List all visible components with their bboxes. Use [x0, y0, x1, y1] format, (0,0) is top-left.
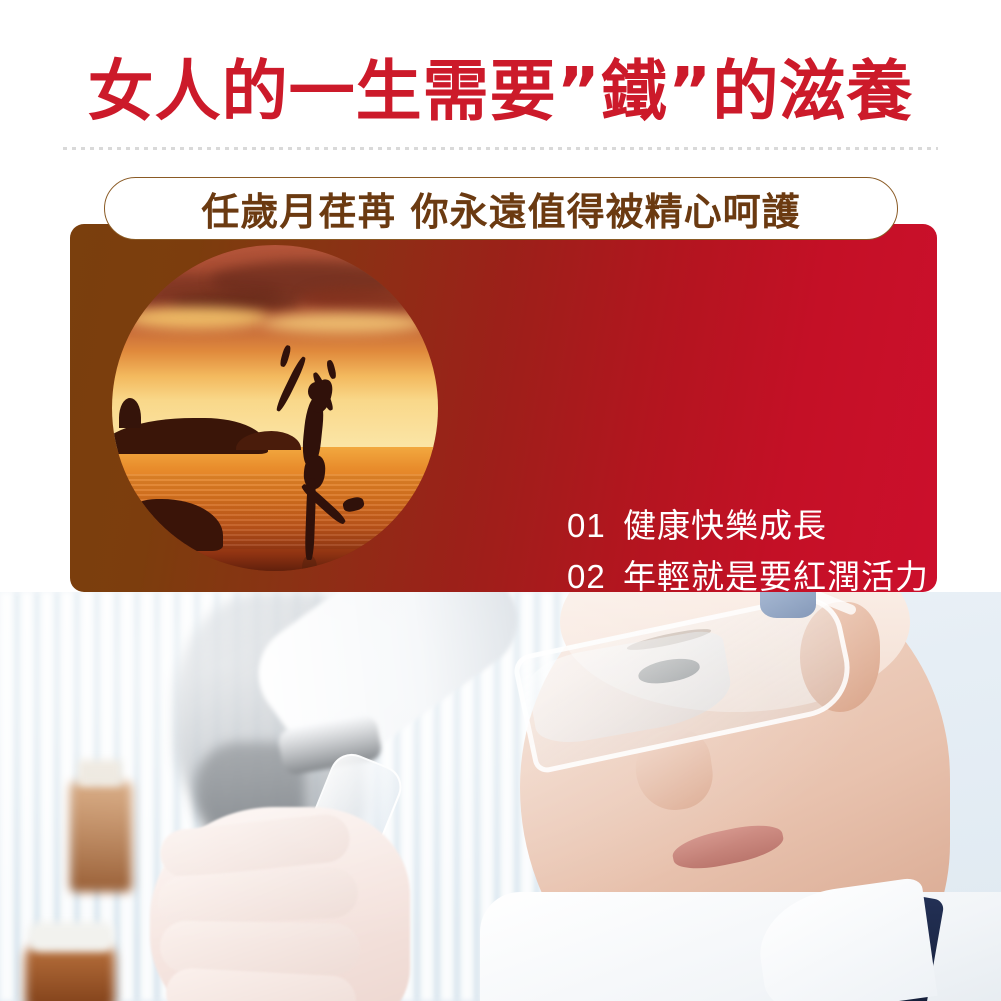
list-item: 01 健康快樂成長	[567, 499, 937, 550]
bottle-cap	[28, 922, 114, 952]
list-item-label: 年輕就是要紅潤活力	[623, 550, 929, 592]
glove-finger	[157, 867, 359, 927]
bottle-cap	[78, 760, 122, 786]
sunset-woman-photo	[112, 245, 438, 571]
subtitle-label: 任歲月荏苒 你永遠值得被精心呵護	[201, 181, 800, 236]
cloud-shape	[301, 286, 425, 311]
list-item-number: 01	[567, 507, 623, 545]
brown-bottle	[70, 782, 132, 892]
woman-silhouette	[265, 343, 395, 558]
brown-bottle	[25, 944, 115, 1001]
cloud-shape	[262, 313, 425, 334]
goggles-blue-tab	[760, 592, 816, 618]
feature-panel: 01 健康快樂成長 02 年輕就是要紅潤活力 03 職場自帶高光 04 孕期前後…	[70, 224, 937, 592]
dotted-divider-icon	[63, 147, 938, 150]
subtitle-pill: 任歲月荏苒 你永遠值得被精心呵護	[104, 177, 898, 240]
cloud-shape	[125, 307, 268, 330]
page-title: 女人的一生需要”鐵”的滋養	[0, 52, 1001, 132]
list-item-label: 健康快樂成長	[623, 499, 827, 547]
list-item: 02 年輕就是要紅潤活力	[567, 550, 937, 592]
list-item-number: 02	[567, 558, 623, 592]
lab-scientist-photo	[0, 592, 1001, 1001]
promo-banner: 女人的一生需要”鐵”的滋養	[0, 0, 1001, 1001]
benefits-list: 01 健康快樂成長 02 年輕就是要紅潤活力 03 職場自帶高光 04 孕期前後…	[567, 499, 937, 592]
